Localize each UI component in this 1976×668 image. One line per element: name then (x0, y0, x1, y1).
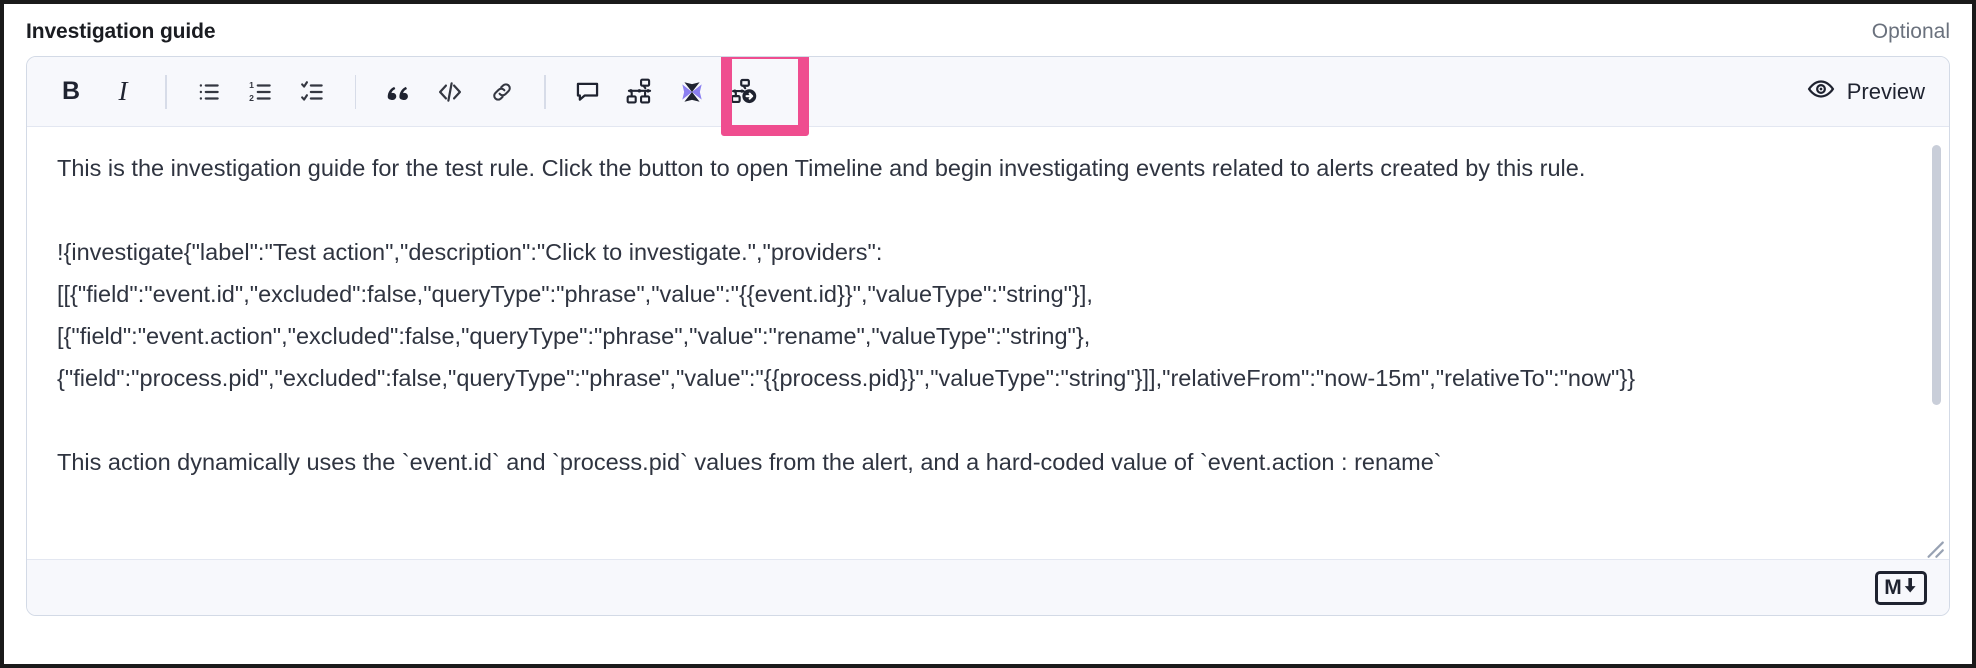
markdown-syntax-button[interactable]: M (1875, 571, 1927, 605)
unordered-list-icon (196, 79, 222, 105)
timeline-button[interactable] (614, 66, 666, 118)
optional-badge: Optional (1872, 20, 1950, 44)
task-list-button[interactable] (287, 66, 339, 118)
osquery-icon (677, 77, 707, 107)
link-button[interactable] (476, 66, 528, 118)
preview-label: Preview (1847, 79, 1925, 105)
page-title: Investigation guide (26, 20, 215, 44)
timeline-icon (625, 77, 654, 106)
guide-paragraph-2: This action dynamically uses the `event.… (57, 441, 1915, 483)
preview-button[interactable]: Preview (1797, 69, 1935, 115)
paragraph-gap-1 (57, 189, 1915, 231)
editor-footer: M (27, 559, 1949, 615)
code-line-2: [[{"field":"event.id","excluded":false,"… (57, 273, 1915, 315)
markdown-editor: B I (26, 56, 1950, 616)
code-line-1: !{investigate{"label":"Test action","des… (57, 231, 1915, 273)
ordered-list-button[interactable]: 1 2 (235, 66, 287, 118)
bold-icon: B (62, 79, 80, 104)
svg-text:1: 1 (249, 80, 254, 90)
code-button[interactable] (424, 66, 476, 118)
link-icon (489, 79, 515, 105)
resize-handle-icon[interactable] (1913, 527, 1947, 561)
code-line-4: {"field":"process.pid","excluded":false,… (57, 357, 1915, 399)
guide-paragraph-1: This is the investigation guide for the … (57, 147, 1915, 189)
unordered-list-button[interactable] (183, 66, 235, 118)
markdown-textarea[interactable]: This is the investigation guide for the … (27, 127, 1949, 561)
bold-button[interactable]: B (45, 66, 97, 118)
italic-icon: I (119, 78, 128, 105)
comment-button[interactable] (562, 66, 614, 118)
markdown-m-label: M (1884, 577, 1902, 598)
investigate-icon (729, 77, 759, 107)
paragraph-gap-2 (57, 399, 1915, 441)
code-icon (436, 78, 464, 106)
comment-icon (574, 78, 601, 105)
svg-text:2: 2 (249, 93, 254, 103)
quote-icon (384, 78, 412, 106)
markdown-down-arrow-icon (1903, 577, 1918, 599)
investigation-guide-panel: Investigation guide Optional B I (0, 0, 1976, 668)
quote-button[interactable] (372, 66, 424, 118)
toolbar-divider-3 (544, 75, 546, 109)
insert-investigation-button[interactable] (718, 66, 770, 118)
editor-toolbar: B I (27, 57, 1949, 127)
field-header: Investigation guide Optional (4, 4, 1972, 56)
ordered-list-icon: 1 2 (248, 79, 274, 105)
toolbar-divider-1 (165, 75, 167, 109)
italic-button[interactable]: I (97, 66, 149, 118)
vertical-scrollbar-thumb[interactable] (1932, 145, 1941, 405)
toolbar-divider-2 (355, 75, 357, 109)
task-list-icon (300, 79, 326, 105)
osquery-button[interactable] (666, 66, 718, 118)
code-line-3: [{"field":"event.action","excluded":fals… (57, 315, 1915, 357)
eye-icon (1807, 75, 1835, 109)
